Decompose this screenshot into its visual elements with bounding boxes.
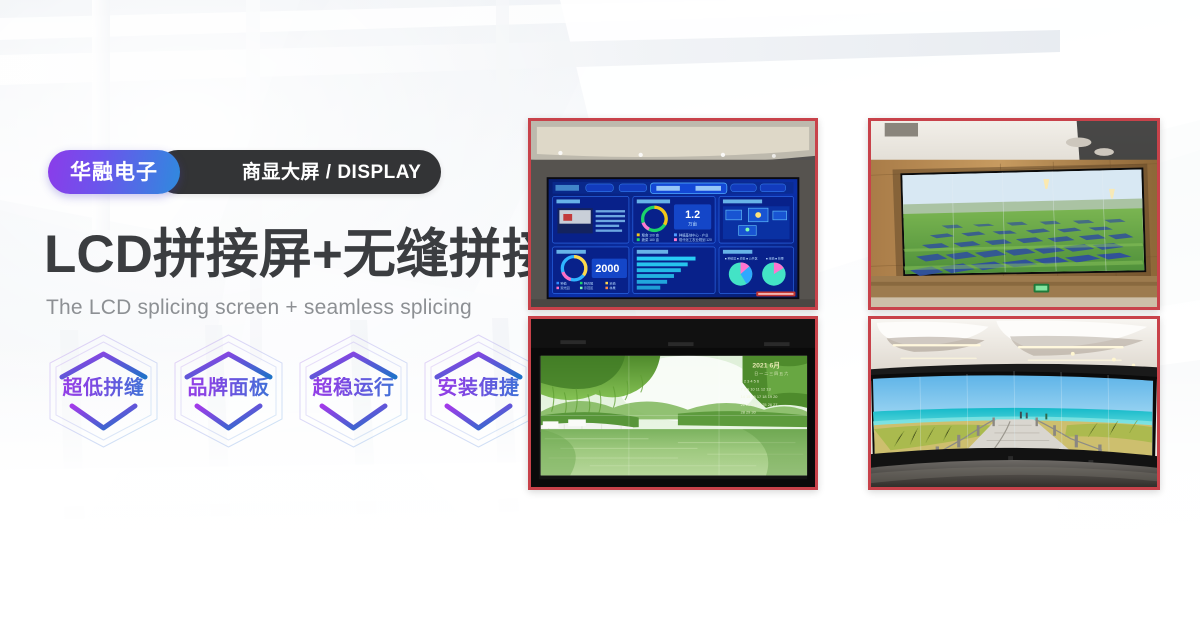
svg-text:■ 种植区 ■ 养殖 ■ 公共区: ■ 种植区 ■ 养殖 ■ 公共区 (725, 256, 758, 261)
brand-badge: 商显大屏 / DISPLAY 华融电子 (48, 150, 180, 194)
svg-text:现代化工农业规划 120: 现代化工农业规划 120 (679, 237, 712, 242)
feature-list: 超低拼缝 品牌面板 超稳运行 (46, 333, 536, 449)
svg-text:示范区: 示范区 (584, 285, 593, 290)
photo-landscape-video-wall[interactable]: 2021 6月 日 一 二 三 四 五 六 1 2 3 4 5 6 7 8 9 … (528, 316, 818, 490)
svg-text:种植: 种植 (560, 280, 566, 285)
feature-label: 安装便捷 (421, 377, 536, 399)
svg-text:1.2: 1.2 (685, 209, 700, 221)
page-subtitle: The LCD splicing screen + seamless splic… (46, 297, 472, 318)
product-banner: 商显大屏 / DISPLAY 华融电子 LCD拼接屏+无缝拼接 The LCD … (0, 0, 1200, 640)
photo-gallery: 1.2 万亩 粮食 100 亩 蔬菜 180 亩 种植基地中心 · 产业 现代化… (528, 118, 1160, 490)
svg-text:粮食 100 亩: 粮食 100 亩 (642, 232, 660, 237)
brand-category-pill: 商显大屏 / DISPLAY (156, 150, 441, 194)
brand-company-label: 华融电子 (70, 162, 158, 183)
photo-solar-farm-video-wall[interactable] (868, 118, 1160, 310)
svg-text:种养殖: 种养殖 (584, 280, 593, 285)
svg-text:采摘: 采摘 (609, 280, 615, 285)
photo-beach-art (871, 319, 1157, 487)
svg-text:7 8 9 10 11 12 13: 7 8 9 10 11 12 13 (741, 386, 771, 391)
feature-item-3: 超稳运行 (296, 333, 411, 449)
svg-text:蔬菜 180 亩: 蔬菜 180 亩 (642, 237, 660, 242)
svg-text:■ 采摘 ■ 林果: ■ 采摘 ■ 林果 (766, 256, 784, 261)
feature-item-1: 超低拼缝 (46, 333, 161, 449)
svg-text:林果: 林果 (609, 285, 615, 290)
photo-beach-video-wall[interactable] (868, 316, 1160, 490)
feature-item-4: 安装便捷 (421, 333, 536, 449)
photo-dashboard-art: 1.2 万亩 粮食 100 亩 蔬菜 180 亩 种植基地中心 · 产业 现代化… (531, 121, 815, 307)
svg-text:观光园: 观光园 (560, 285, 569, 290)
svg-text:14 15 16 17 18 19 20: 14 15 16 17 18 19 20 (741, 394, 778, 399)
feature-label: 品牌面板 (171, 377, 286, 399)
feature-label: 超低拼缝 (46, 377, 161, 399)
brand-category-label: 商显大屏 / DISPLAY (242, 163, 421, 182)
svg-text:日 一 二 三 四 五 六: 日 一 二 三 四 五 六 (754, 371, 788, 376)
feature-label: 超稳运行 (296, 377, 411, 399)
svg-text:1 2 3 4 5 6: 1 2 3 4 5 6 (741, 379, 759, 384)
svg-text:2021 6月: 2021 6月 (752, 361, 780, 369)
photo-landscape-art: 2021 6月 日 一 二 三 四 五 六 1 2 3 4 5 6 7 8 9 … (531, 319, 815, 487)
banner-text-column: 商显大屏 / DISPLAY 华融电子 LCD拼接屏+无缝拼接 The LCD … (0, 0, 540, 640)
svg-text:2000: 2000 (595, 263, 619, 275)
svg-text:种植基地中心 · 产业: 种植基地中心 · 产业 (679, 232, 709, 237)
brand-company-pill: 华融电子 (48, 150, 180, 194)
svg-text:21 22 23 24 25 26 27: 21 22 23 24 25 26 27 (741, 402, 778, 407)
page-title: LCD拼接屏+无缝拼接 (44, 228, 555, 281)
feature-item-2: 品牌面板 (171, 333, 286, 449)
photo-solar-art (871, 121, 1157, 307)
svg-text:28 29 30: 28 29 30 (741, 410, 756, 415)
svg-text:万亩: 万亩 (688, 221, 697, 228)
photo-dashboard-video-wall[interactable]: 1.2 万亩 粮食 100 亩 蔬菜 180 亩 种植基地中心 · 产业 现代化… (528, 118, 818, 310)
